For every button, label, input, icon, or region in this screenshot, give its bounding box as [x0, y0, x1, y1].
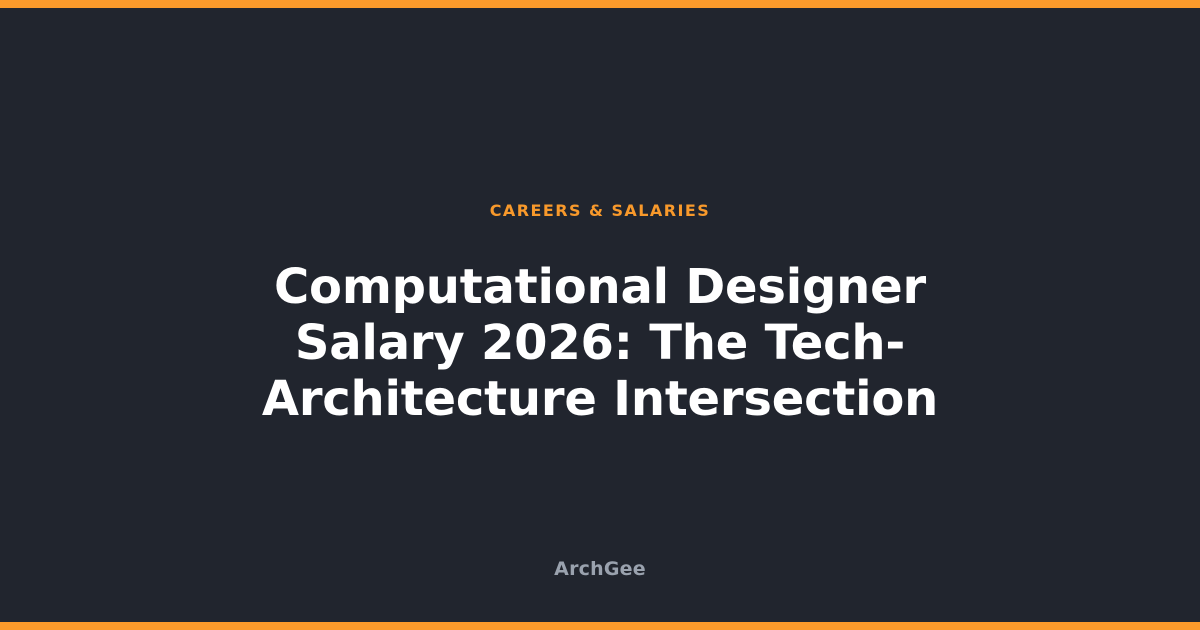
card-footer: ArchGee: [0, 560, 1200, 579]
bottom-accent-bar: [0, 622, 1200, 630]
site-brand-name: ArchGee: [554, 560, 646, 579]
page-title: Computational Designer Salary 2026: The …: [185, 259, 1015, 427]
category-eyebrow: CAREERS & SALARIES: [490, 203, 711, 219]
card-content: CAREERS & SALARIES Computational Designe…: [0, 0, 1200, 630]
social-share-card: CAREERS & SALARIES Computational Designe…: [0, 0, 1200, 630]
